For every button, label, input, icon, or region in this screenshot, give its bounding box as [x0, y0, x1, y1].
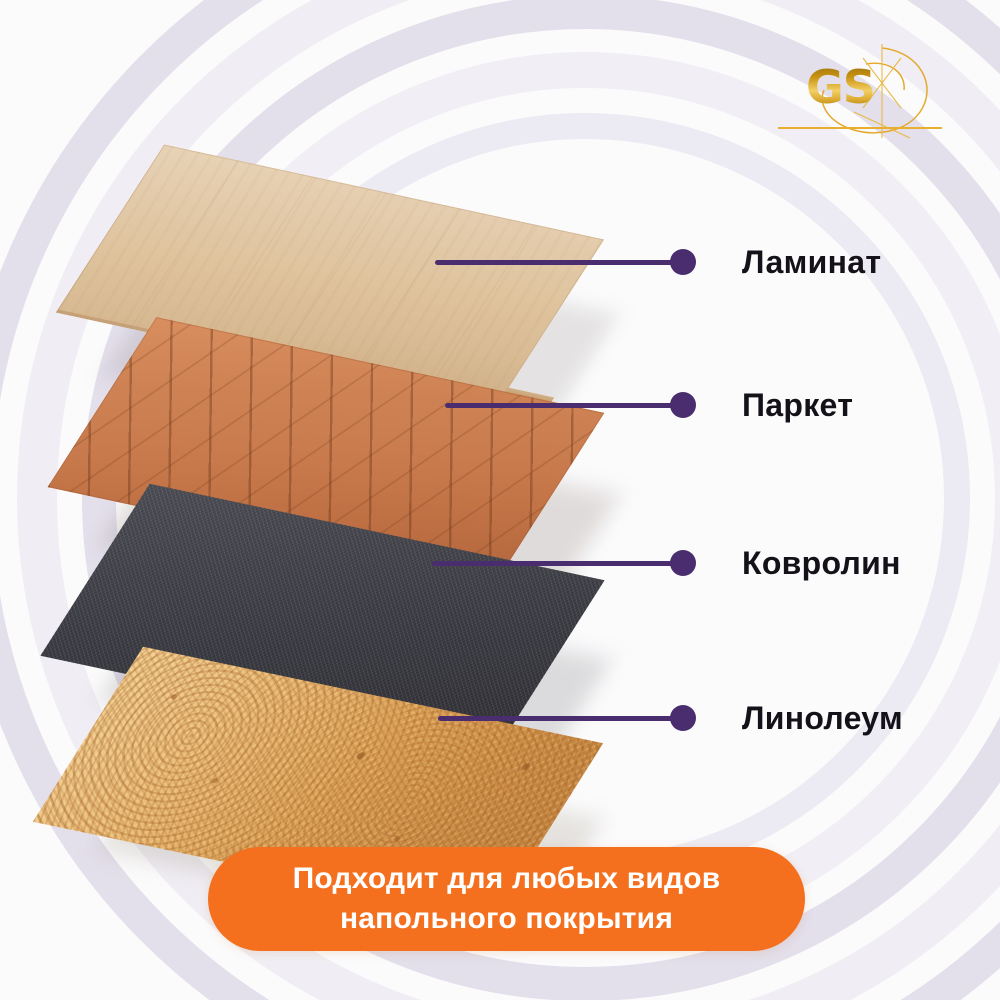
callout-label-kovrolin: Ковролин [742, 545, 901, 582]
callout-line [435, 260, 673, 265]
callout-parket[interactable]: Паркет [445, 385, 853, 425]
cta-banner[interactable]: Подходит для любых видов напольного покр… [208, 847, 805, 951]
callout-linoleum[interactable]: Линолеум [438, 698, 903, 738]
logo-wordmark: GS [806, 64, 875, 110]
callout-label-laminat: Ламинат [742, 244, 881, 281]
bullet-dot-icon [670, 705, 696, 731]
bullet-dot-icon [670, 550, 696, 576]
cta-line-2: напольного покрытия [340, 902, 673, 935]
infographic-canvas: GS Ламинат Паркет Ковролин Ли [0, 0, 1000, 1000]
cta-line-1: Подходит для любых видов [293, 862, 721, 895]
bullet-dot-icon [670, 392, 696, 418]
callout-line [438, 716, 673, 721]
callout-label-linoleum: Линолеум [742, 700, 903, 737]
cta-text: Подходит для любых видов напольного покр… [263, 859, 751, 938]
brand-logo: GS [770, 42, 945, 152]
bullet-dot-icon [670, 249, 696, 275]
callout-line [445, 403, 673, 408]
callout-laminat[interactable]: Ламинат [435, 242, 881, 282]
callout-kovrolin[interactable]: Ковролин [432, 543, 901, 583]
callout-line [432, 561, 673, 566]
callout-label-parket: Паркет [742, 387, 853, 424]
